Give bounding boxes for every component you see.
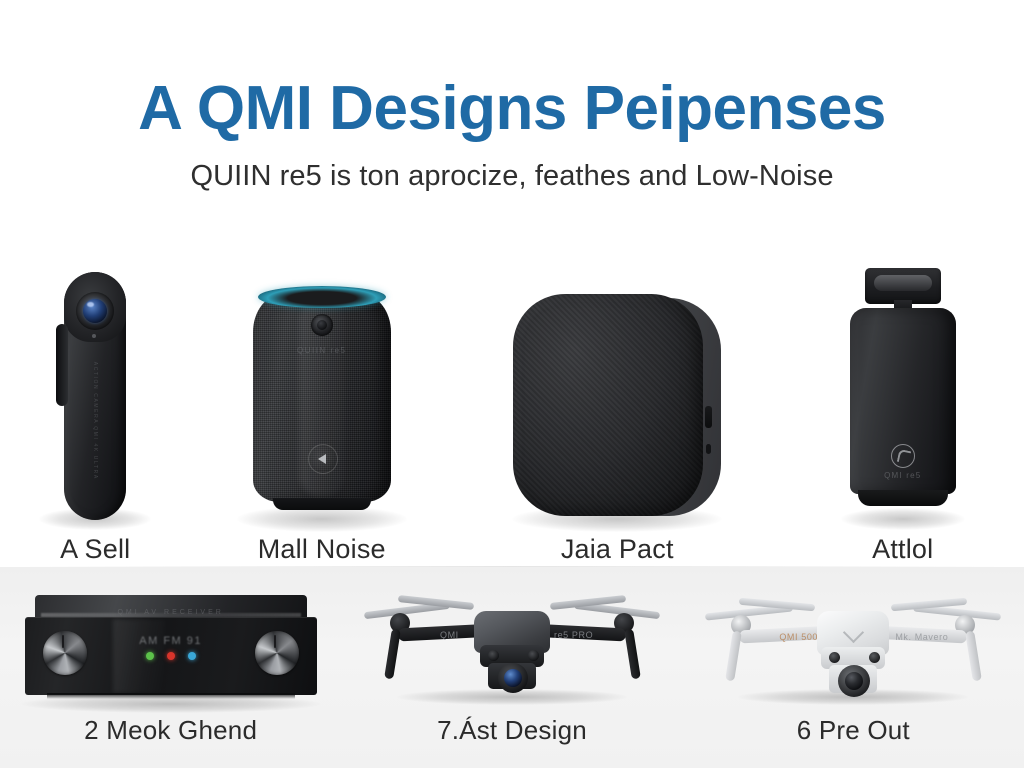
drone-arm-text-left: QMI [440,630,459,640]
drone-arm-text-left: QMI 500 [779,632,818,642]
product-card-pre-out[interactable]: QMI 500 Mk. Mavero 6 Pre Out [703,591,1003,768]
speaker-camera-icon [317,320,327,330]
product-label: Attlol [872,534,933,565]
product-card-meok-ghend[interactable]: QMI AV RECEIVER AM FM 91 2 Meok Ghend [21,595,321,768]
product-image-jaia-pact [509,294,725,520]
product-image-mall-noise: QUIIN re5 [247,284,397,520]
product-card-a-sell[interactable]: ACTION CAMERA QMI 4K ULTRA A Sell [56,272,134,565]
cylinder-camera-icon: ACTION CAMERA QMI 4K ULTRA [56,272,134,520]
link-led [188,652,196,660]
receiver-brand-text: QMI AV RECEIVER [21,609,321,616]
camera-brand-text-a: ACTION CAMERA [92,362,98,424]
speaker-port-icon [705,406,712,428]
drone-arm-text-right: re5 PRO [554,630,593,640]
mesh-smart-speaker-icon: QUIIN re5 [247,284,397,520]
product-label: 2 Meok Ghend [84,715,257,746]
page-subtitle: QUIIN re5 is ton aprocize, feathes and L… [0,140,1024,193]
product-card-mall-noise[interactable]: QUIIN re5 Mall Noise [247,284,397,565]
record-led [167,652,175,660]
tower-brand-text: QMI re5 [838,471,968,480]
volume-knob[interactable] [43,631,87,675]
speaker-led-ring [258,286,386,308]
power-led [146,652,154,660]
product-card-ast-design[interactable]: QMI re5 PRO 7.Ást Design [362,591,662,768]
product-image-ast-design: QMI re5 PRO [362,591,662,707]
drone-arm-text-right: Mk. Mavero [895,632,948,642]
product-image-a-sell: ACTION CAMERA QMI 4K ULTRA [56,272,134,520]
product-label: 6 Pre Out [797,715,910,746]
tower-speaker-mount-icon: QMI re5 [838,268,968,520]
poster-header: A QMI Designs Peipenses QUIIN re5 is ton… [0,0,1024,193]
product-label: 7.Ást Design [437,715,587,746]
bottom-product-row: QMI AV RECEIVER AM FM 91 2 Meok Ghend [0,567,1024,768]
av-receiver-icon: QMI AV RECEIVER AM FM 91 [21,595,321,707]
quadcopter-drone-dark-icon: QMI re5 PRO [362,591,662,707]
product-label: Jaia Pact [561,534,674,565]
speaker-port-secondary-icon [706,444,711,454]
brand-emblem-icon [891,444,915,468]
product-card-jaia-pact[interactable]: Jaia Pact [509,294,725,565]
status-led-group [125,652,217,660]
product-label: A Sell [60,534,130,565]
product-poster: A QMI Designs Peipenses QUIIN re5 is ton… [0,0,1024,768]
page-title: A QMI Designs Peipenses [0,0,1024,140]
product-image-attlol: QMI re5 [838,268,968,520]
receiver-display-text: AM FM 91 [125,635,217,647]
top-product-row: ACTION CAMERA QMI 4K ULTRA A Sell QUIIN … [0,232,1024,565]
product-image-meok-ghend: QMI AV RECEIVER AM FM 91 [21,595,321,707]
product-image-pre-out: QMI 500 Mk. Mavero [703,591,1003,707]
square-fabric-speaker-icon [509,294,725,520]
product-label: Mall Noise [258,534,386,565]
speaker-brand-text: QUIIN re5 [247,346,397,355]
camera-side-button [56,324,68,406]
source-knob[interactable] [255,631,299,675]
receiver-display: AM FM 91 [125,635,217,669]
speaker-play-button[interactable] [308,444,338,474]
product-card-attlol[interactable]: QMI re5 Attlol [838,268,968,565]
quadcopter-drone-white-icon: QMI 500 Mk. Mavero [703,591,1003,707]
camera-brand-text-b: QMI 4K ULTRA [92,426,98,480]
